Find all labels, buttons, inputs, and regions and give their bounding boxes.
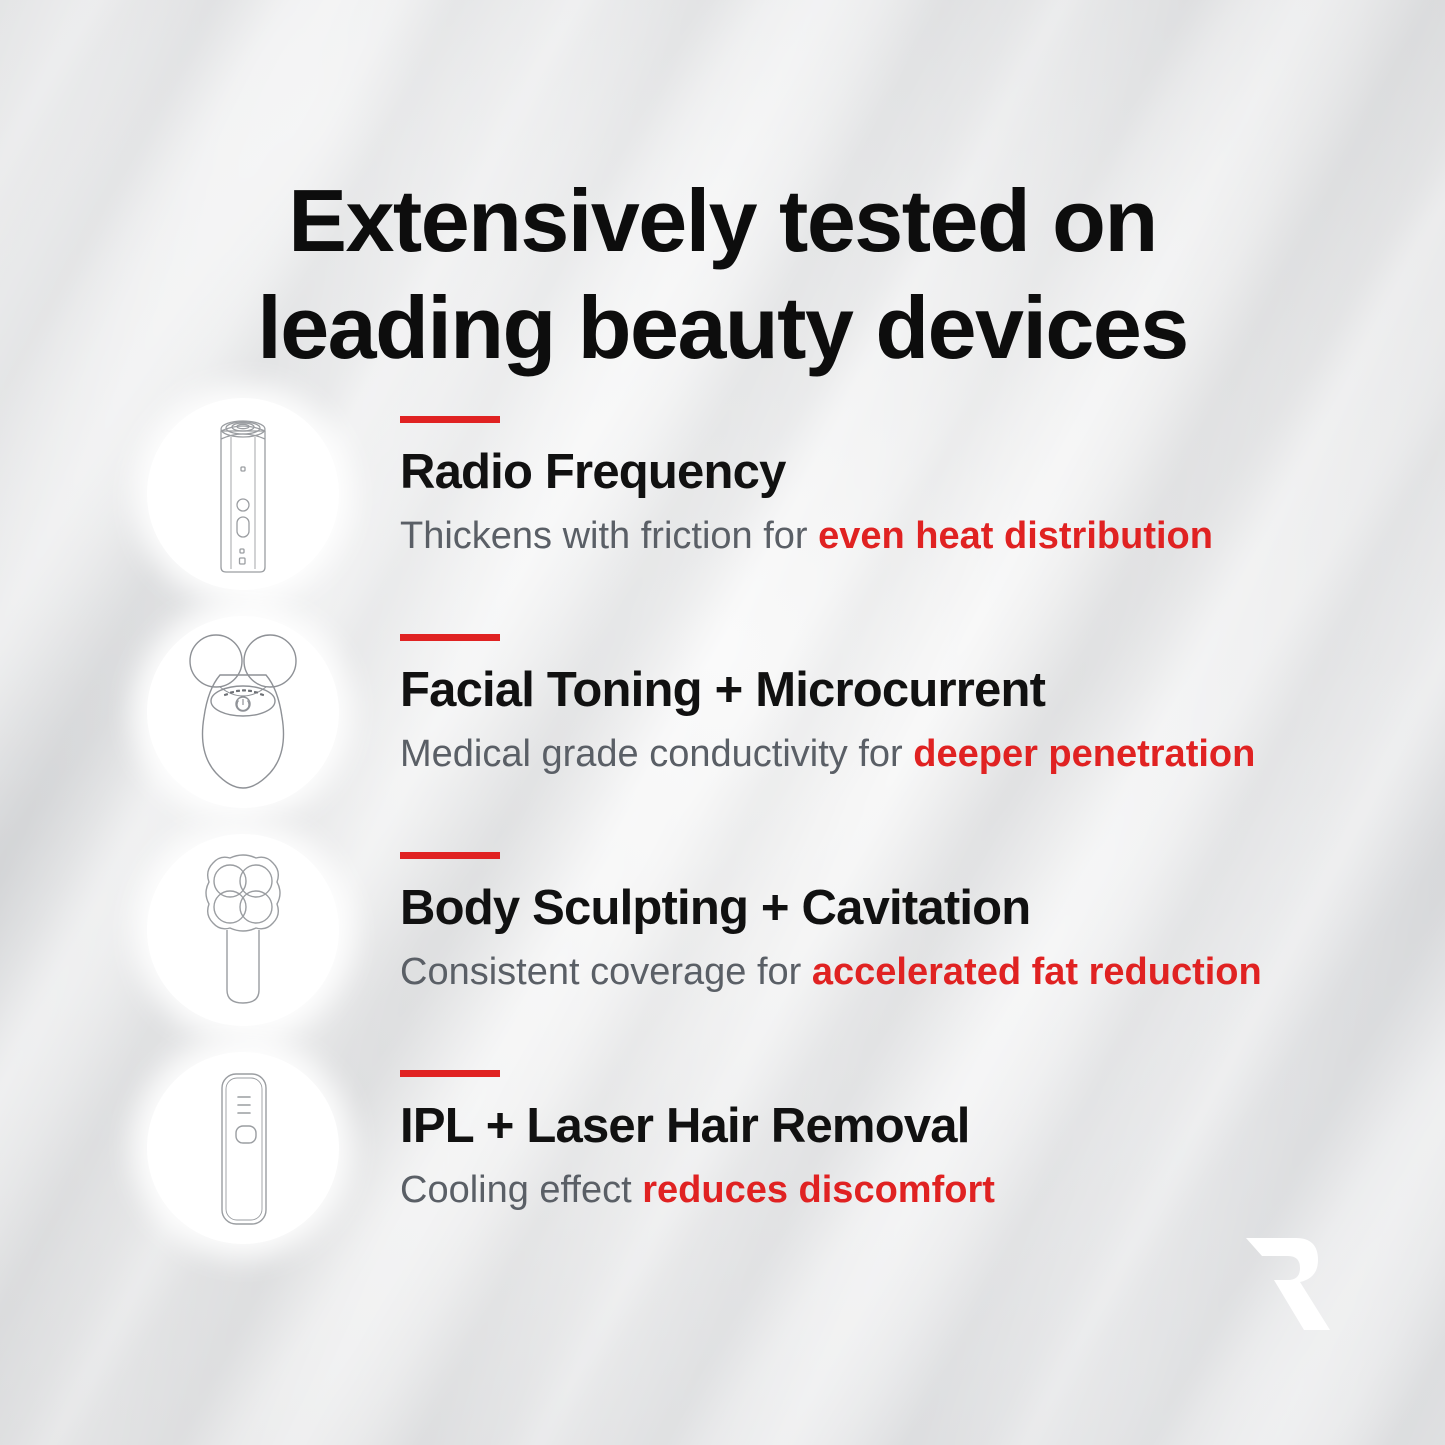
feature-subtitle-highlight: deeper penetration [913, 733, 1255, 775]
feature-subtitle: Thickens with friction for even heat dis… [400, 515, 1405, 558]
feature-subtitle-plain: Medical grade conductivity for [400, 733, 913, 775]
feature-subtitle-highlight: even heat distribution [818, 515, 1213, 557]
icon-disc [147, 1052, 339, 1244]
feature-row: Radio Frequency Thickens with friction f… [0, 392, 1445, 610]
feature-text-block: Body Sculpting + Cavitation Consistent c… [400, 828, 1405, 994]
feature-text-block: IPL + Laser Hair Removal Cooling effect … [400, 1046, 1405, 1212]
icon-disc [147, 616, 339, 808]
facial-toning-device-icon [168, 631, 318, 793]
rf-wand-device-icon [183, 409, 303, 579]
brand-logo [1238, 1232, 1334, 1336]
promo-graphic-canvas: Extensively tested on leading beauty dev… [0, 0, 1445, 1445]
feature-list: Radio Frequency Thickens with friction f… [0, 392, 1445, 1264]
icon-disc [147, 834, 339, 1026]
feature-title: Radio Frequency [400, 447, 1405, 498]
brand-r-logo-icon [1238, 1232, 1334, 1336]
feature-row: IPL + Laser Hair Removal Cooling effect … [0, 1046, 1445, 1264]
feature-text-block: Facial Toning + Microcurrent Medical gra… [400, 610, 1405, 776]
accent-dash [400, 416, 500, 423]
feature-subtitle-highlight: accelerated fat reduction [812, 951, 1262, 993]
ipl-laser-device-icon [188, 1066, 298, 1231]
accent-dash [400, 634, 500, 641]
accent-dash [400, 1070, 500, 1077]
feature-title: IPL + Laser Hair Removal [400, 1101, 1405, 1152]
icon-disc [147, 398, 339, 590]
feature-subtitle-highlight: reduces discomfort [642, 1169, 995, 1211]
feature-text-block: Radio Frequency Thickens with friction f… [400, 392, 1405, 558]
feature-subtitle: Cooling effect reduces discomfort [400, 1169, 1405, 1212]
feature-subtitle-plain: Cooling effect [400, 1169, 642, 1211]
feature-title: Facial Toning + Microcurrent [400, 665, 1405, 716]
feature-row: Body Sculpting + Cavitation Consistent c… [0, 828, 1445, 1046]
feature-title: Body Sculpting + Cavitation [400, 883, 1405, 934]
page-title: Extensively tested on leading beauty dev… [0, 167, 1445, 382]
body-sculpting-device-icon [178, 845, 308, 1015]
feature-subtitle-plain: Thickens with friction for [400, 515, 818, 557]
accent-dash [400, 852, 500, 859]
feature-subtitle-plain: Consistent coverage for [400, 951, 812, 993]
feature-row: Facial Toning + Microcurrent Medical gra… [0, 610, 1445, 828]
feature-subtitle: Medical grade conductivity for deeper pe… [400, 733, 1405, 776]
feature-subtitle: Consistent coverage for accelerated fat … [400, 951, 1405, 994]
